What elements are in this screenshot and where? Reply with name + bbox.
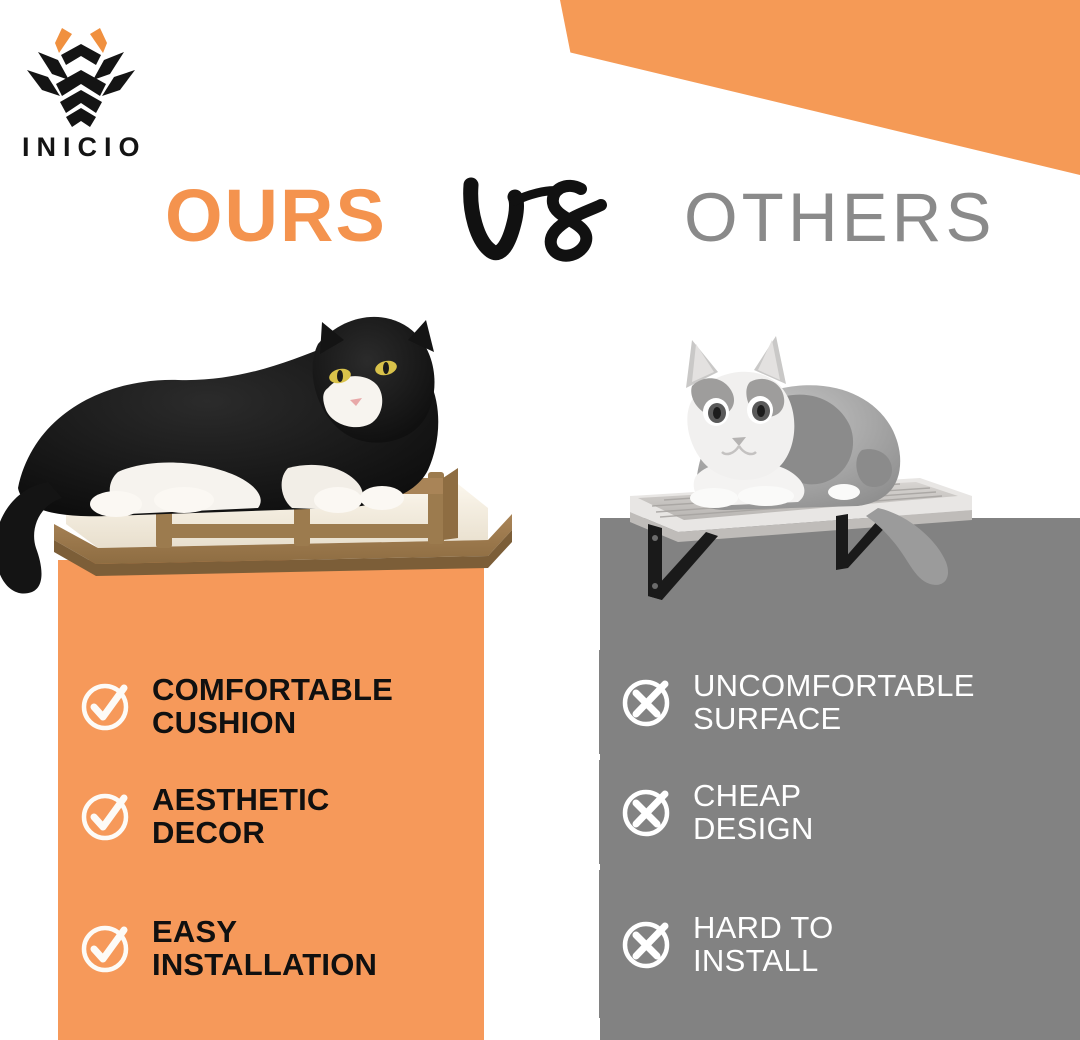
ours-feature-item[interactable]: EASY INSTALLATION — [58, 874, 484, 1022]
feature-line-2: SURFACE — [693, 702, 975, 735]
ours-feature-item[interactable]: AESTHETIC DECOR — [58, 764, 484, 868]
ours-feature-item[interactable]: COMFORTABLE CUSHION — [58, 654, 484, 758]
ours-feature-list: COMFORTABLE CUSHION AESTHETIC DECOR EASY… — [58, 654, 484, 1028]
ours-product-image — [0, 292, 560, 612]
feature-line-1: EASY — [152, 915, 377, 948]
others-feature-item[interactable]: HARD TO INSTALL — [599, 870, 1026, 1018]
corner-banner — [560, 0, 1080, 175]
brand-logo: INICIO — [22, 22, 172, 172]
others-feature-item[interactable]: CHEAP DESIGN — [599, 760, 1026, 864]
others-product-image — [600, 300, 1000, 600]
headline-others: OTHERS — [684, 183, 996, 252]
feature-line-1: UNCOMFORTABLE — [693, 669, 975, 702]
feature-line-1: HARD TO — [693, 911, 833, 944]
others-feature-text: CHEAP DESIGN — [693, 779, 814, 846]
x-circle-icon — [619, 784, 675, 840]
check-circle-icon — [78, 678, 134, 734]
feature-line-2: CUSHION — [152, 706, 393, 739]
x-circle-icon — [619, 674, 675, 730]
brand-name: INICIO — [22, 134, 172, 161]
bee-logo-icon — [22, 22, 140, 130]
feature-line-2: DECOR — [152, 816, 329, 849]
headline: OURS OTHERS — [0, 175, 1080, 285]
others-feature-item[interactable]: UNCOMFORTABLE SURFACE — [599, 650, 1026, 754]
ours-feature-text: AESTHETIC DECOR — [152, 783, 329, 850]
check-circle-icon — [78, 788, 134, 844]
feature-line-2: INSTALLATION — [152, 948, 377, 981]
feature-line-2: INSTALL — [693, 944, 833, 977]
others-feature-text: UNCOMFORTABLE SURFACE — [693, 669, 975, 736]
feature-line-1: CHEAP — [693, 779, 814, 812]
ours-feature-text: EASY INSTALLATION — [152, 915, 377, 982]
check-circle-icon — [78, 920, 134, 976]
ours-feature-text: COMFORTABLE CUSHION — [152, 673, 393, 740]
feature-line-1: AESTHETIC — [152, 783, 329, 816]
comparison-infographic: INICIO OURS OTHERS — [0, 0, 1080, 1040]
feature-line-2: DESIGN — [693, 812, 814, 845]
headline-ours: OURS — [165, 179, 387, 253]
x-circle-icon — [619, 916, 675, 972]
headline-vs-script — [455, 167, 615, 277]
others-feature-list: UNCOMFORTABLE SURFACE CHEAP DESIGN H — [599, 650, 1026, 1024]
others-feature-text: HARD TO INSTALL — [693, 911, 833, 978]
feature-line-1: COMFORTABLE — [152, 673, 393, 706]
